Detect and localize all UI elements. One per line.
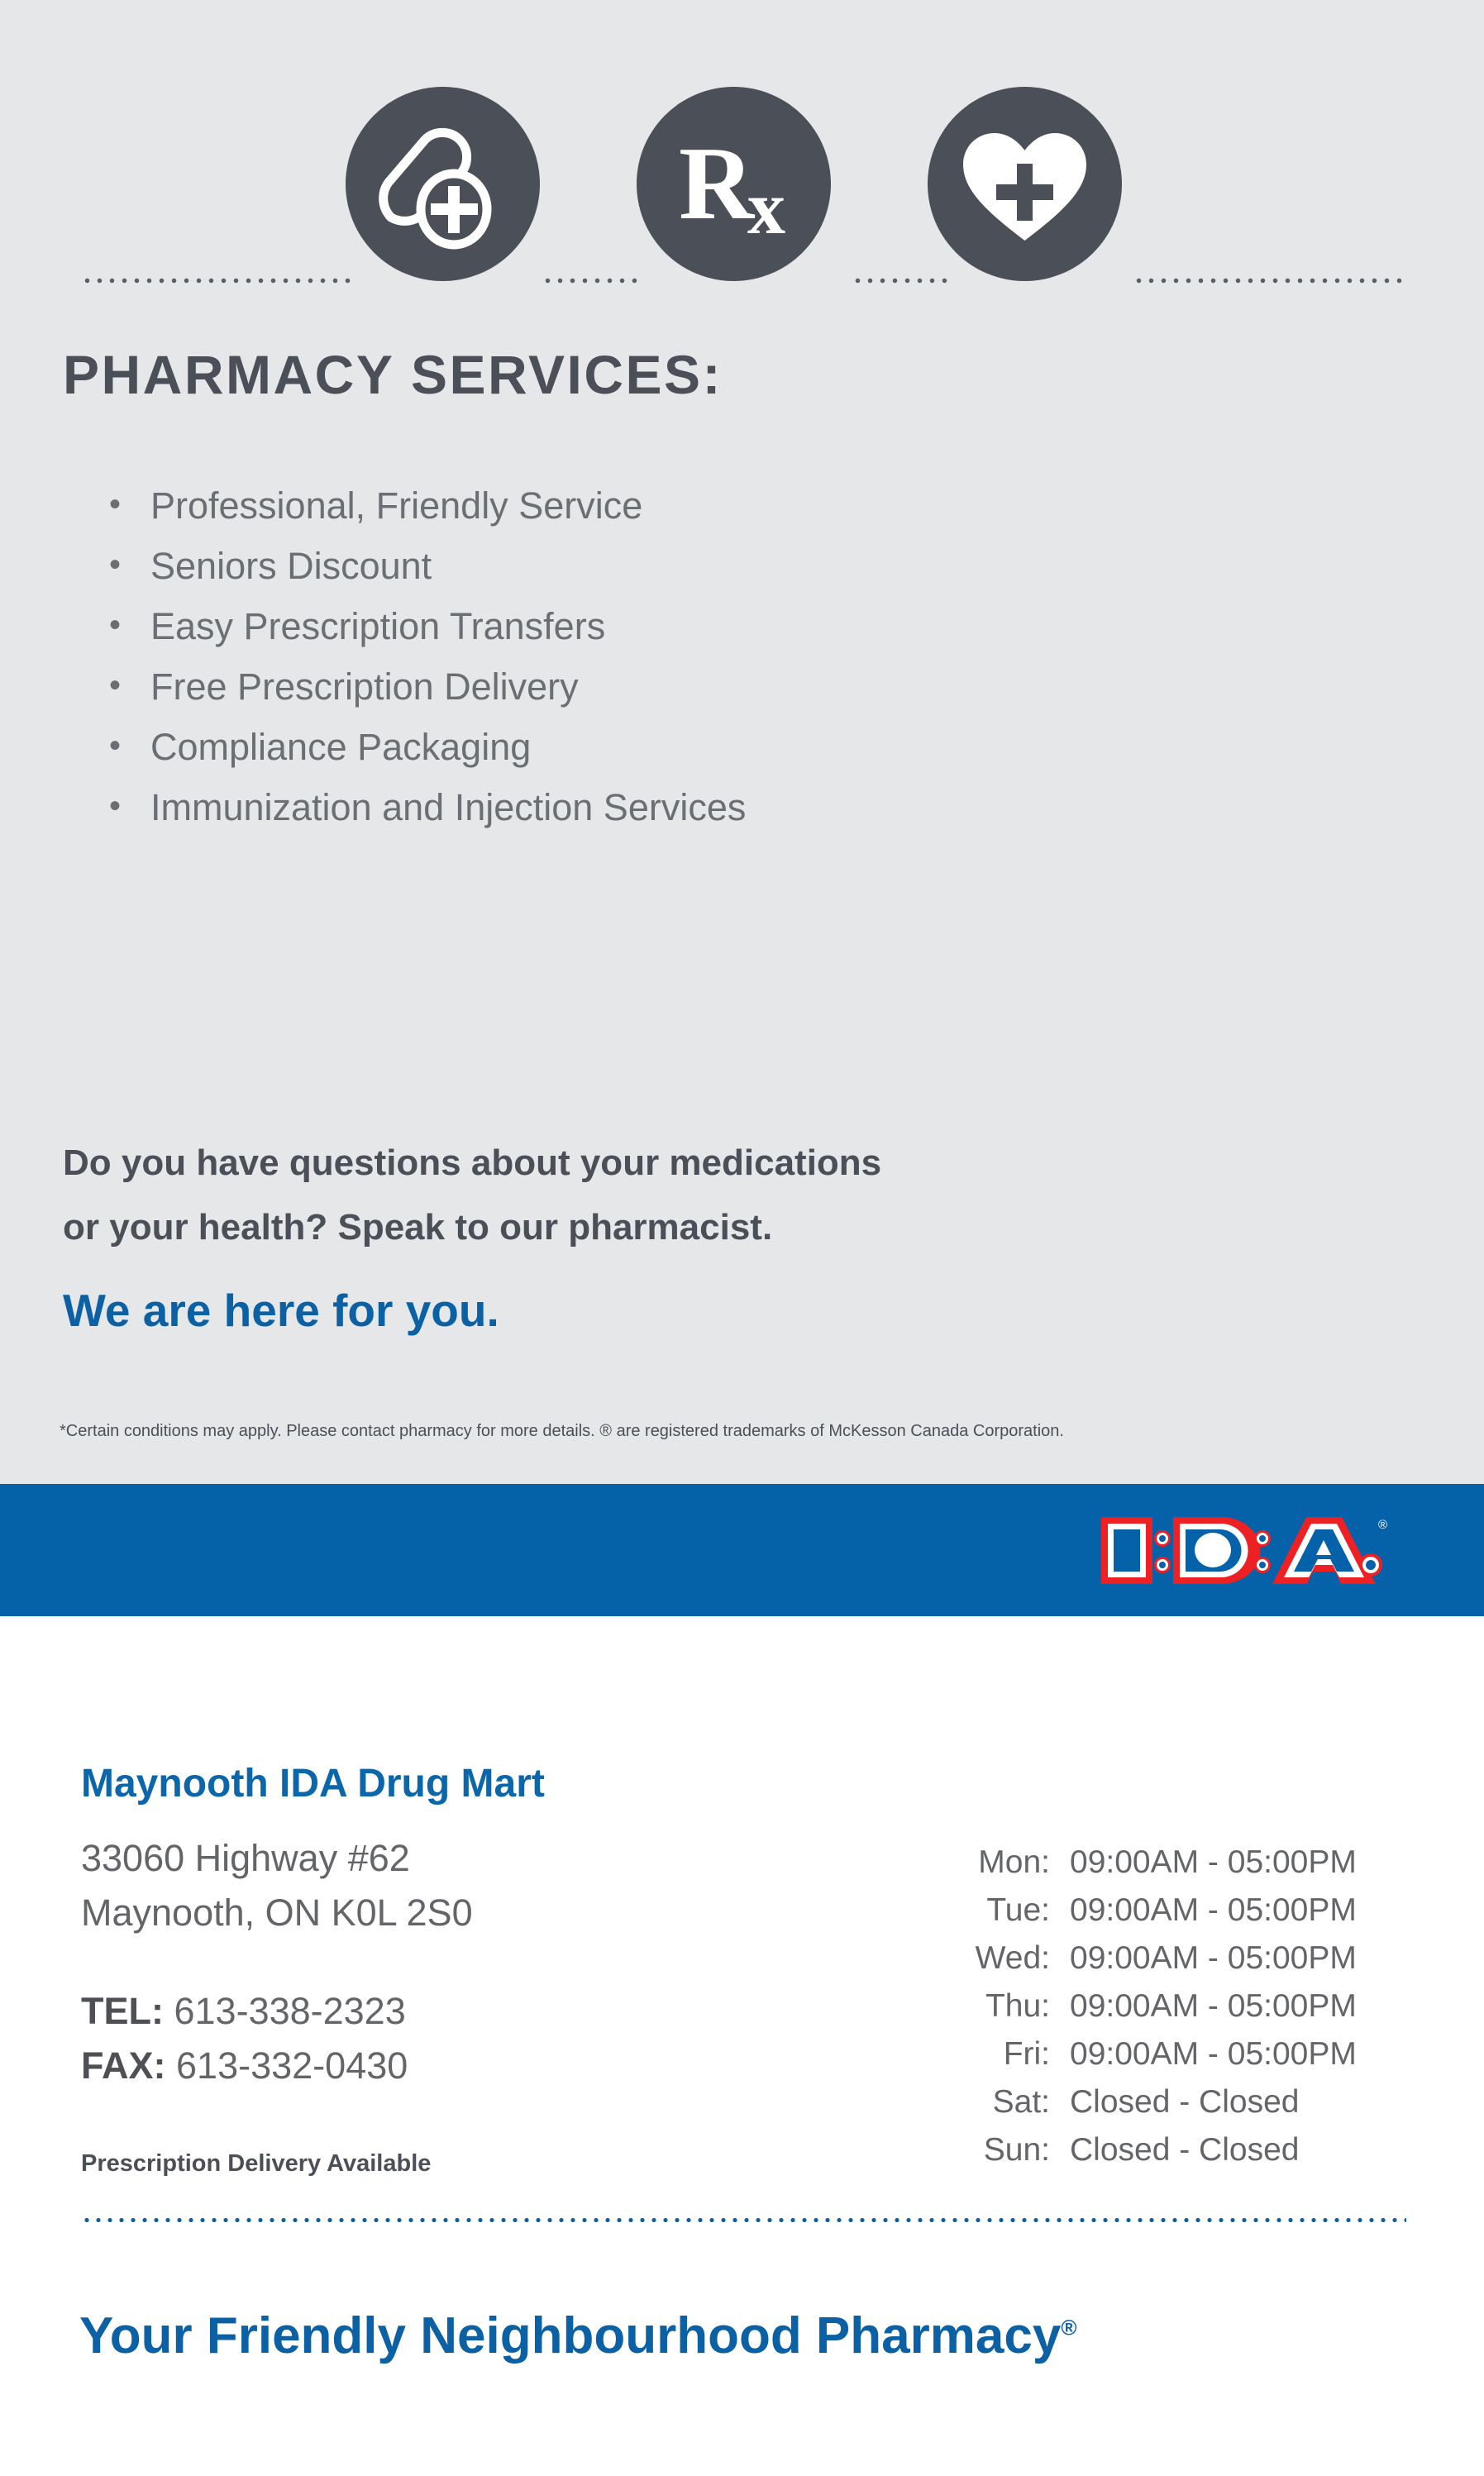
store-name: Maynooth IDA Drug Mart (81, 1761, 545, 1806)
hours-time: 09:00AM - 05:00PM (1070, 1839, 1357, 1887)
hours-day: Tue: (942, 1887, 1070, 1935)
rx-glyph-sub: x (747, 165, 784, 250)
ida-logo: ® (1097, 1507, 1395, 1594)
table-row: Sun: Closed - Closed (942, 2126, 1357, 2174)
rx-glyph-main: R (679, 126, 752, 241)
telephone-line: TEL: 613-338-2323 (81, 1984, 408, 2039)
heart-plus-icon (928, 87, 1122, 281)
hours-day: Sun: (942, 2126, 1070, 2174)
hours-time: 09:00AM - 05:00PM (1070, 2030, 1357, 2078)
dotted-rule-mid-left (542, 278, 639, 284)
services-list: Professional, Friendly Service Seniors D… (109, 475, 746, 837)
fax-line: FAX: 613-332-0430 (81, 2039, 408, 2093)
pharmacy-flyer-page: Rx PHARMACY SERVICES: Professional, Frie… (0, 0, 1484, 2476)
hours-time: 09:00AM - 05:00PM (1070, 1935, 1357, 1982)
telephone-label: TEL: (81, 1990, 164, 2032)
table-row: Tue: 09:00AM - 05:00PM (942, 1887, 1357, 1935)
logo-registered-mark: ® (1378, 1518, 1387, 1532)
list-item: Compliance Packaging (109, 717, 746, 777)
hours-time: Closed - Closed (1070, 2126, 1357, 2174)
list-item: Seniors Discount (109, 536, 746, 596)
list-item: Free Prescription Delivery (109, 656, 746, 717)
pills-plus-icon (346, 87, 540, 281)
table-row: Sat: Closed - Closed (942, 2078, 1357, 2126)
hours-day: Fri: (942, 2030, 1070, 2078)
contact-block: TEL: 613-338-2323 FAX: 613-332-0430 (81, 1984, 408, 2093)
dotted-rule-right (1133, 278, 1405, 284)
fax-value: 613-332-0430 (176, 2044, 408, 2087)
hours-table: Mon: 09:00AM - 05:00PM Tue: 09:00AM - 05… (942, 1839, 1357, 2174)
rx-glyph: Rx (637, 87, 831, 281)
fax-label: FAX: (81, 2044, 166, 2087)
hours-time: 09:00AM - 05:00PM (1070, 1887, 1357, 1935)
disclaimer-text: *Certain conditions may apply. Please co… (60, 1420, 1064, 1442)
list-item: Professional, Friendly Service (109, 475, 746, 536)
hours-day: Wed: (942, 1935, 1070, 1982)
delivery-note: Prescription Delivery Available (81, 2150, 431, 2178)
footer-registered-mark: ® (1061, 2315, 1076, 2340)
questions-text: Do you have questions about your medicat… (63, 1131, 881, 1260)
table-row: Wed: 09:00AM - 05:00PM (942, 1935, 1357, 1982)
footer-dotted-rule (81, 2217, 1406, 2223)
hours-day: Mon: (942, 1839, 1070, 1887)
highlight-text: We are here for you. (63, 1284, 499, 1337)
table-row: Thu: 09:00AM - 05:00PM (942, 1982, 1357, 2030)
hours-time: Closed - Closed (1070, 2078, 1357, 2126)
hours-day: Thu: (942, 1982, 1070, 2030)
footer-tagline-text: Your Friendly Neighbourhood Pharmacy (79, 2307, 1061, 2364)
list-item: Easy Prescription Transfers (109, 596, 746, 656)
rx-icon: Rx (637, 87, 831, 281)
page-title: PHARMACY SERVICES: (63, 343, 723, 406)
store-address: 33060 Highway #62 Maynooth, ON K0L 2S0 (81, 1831, 473, 1940)
table-row: Mon: 09:00AM - 05:00PM (942, 1839, 1357, 1887)
header-icon-strip: Rx (0, 87, 1484, 293)
dotted-rule-left (81, 278, 354, 284)
list-item: Immunization and Injection Services (109, 777, 746, 837)
table-row: Fri: 09:00AM - 05:00PM (942, 2030, 1357, 2078)
footer-tagline: Your Friendly Neighbourhood Pharmacy® (79, 2307, 1077, 2365)
hours-time: 09:00AM - 05:00PM (1070, 1982, 1357, 2030)
hours-day: Sat: (942, 2078, 1070, 2126)
telephone-value: 613-338-2323 (174, 1990, 406, 2032)
